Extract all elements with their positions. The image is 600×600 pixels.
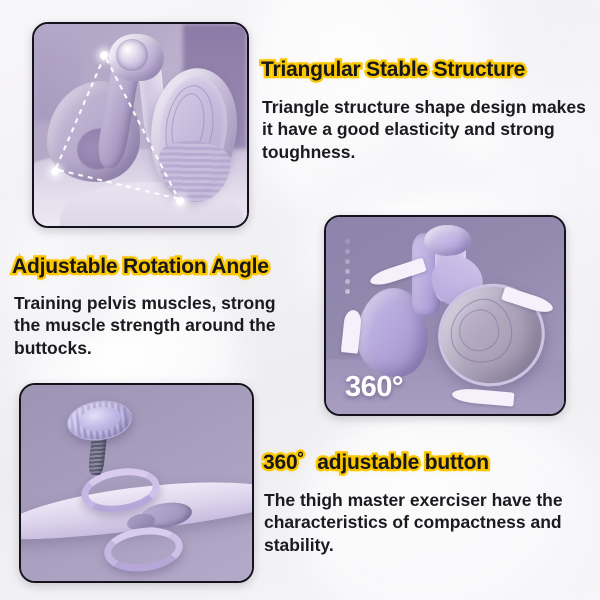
feature-image-rotation: 360° [324, 215, 566, 416]
feature-heading-button-rest: adjustable button [317, 451, 489, 474]
feature-heading-button: 360˚adjustable button [263, 451, 489, 475]
feature-image-button [19, 383, 254, 583]
dashed-triangle-overlay [34, 24, 247, 226]
degree-badge-360: 360° [345, 371, 403, 404]
triangle-vertex-dot [176, 197, 185, 206]
feature-heading-button-degrees: 360˚ [263, 451, 304, 474]
feature-heading-triangular: Triangular Stable Structure [261, 58, 525, 82]
feature-body-rotation: Training pelvis muscles, strong the musc… [14, 292, 304, 359]
feature-heading-rotation: Adjustable Rotation Angle [12, 255, 269, 279]
feature-image-triangular [32, 22, 249, 228]
decorative-dot-column [345, 239, 350, 294]
triangle-vertex-dot [51, 167, 60, 176]
product-photo-rotation: 360° [326, 217, 564, 414]
feature-body-button: The thigh master exerciser have the char… [264, 489, 584, 556]
feature-body-triangular: Triangle structure shape design makes it… [262, 96, 592, 163]
triangle-vertex-dot [100, 51, 109, 60]
product-photo-button [21, 385, 252, 581]
product-photo-triangular [34, 24, 247, 226]
